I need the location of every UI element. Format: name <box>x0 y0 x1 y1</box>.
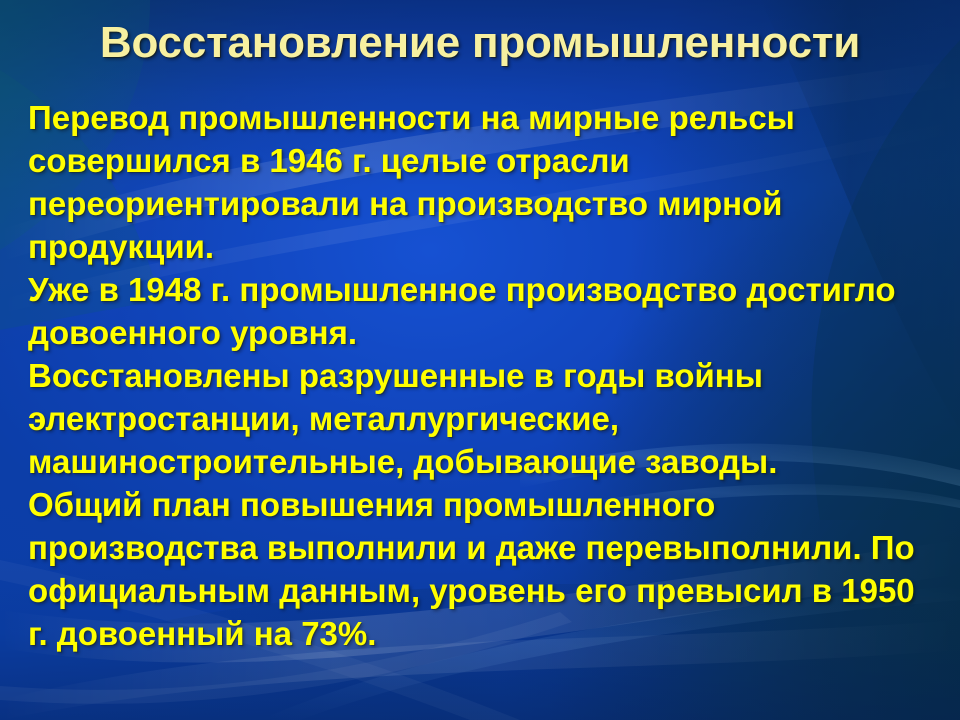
slide-content: Восстановление промышленности Перевод пр… <box>0 0 960 720</box>
body-line: продукции. <box>28 225 936 268</box>
presentation-slide: Восстановление промышленности Перевод пр… <box>0 0 960 720</box>
body-line: Уже в 1948 г. промышленное производство … <box>28 268 936 311</box>
body-line: официальным данным, уровень его превысил… <box>28 569 936 612</box>
body-line: г. довоенный на 73%. <box>28 612 936 655</box>
body-line: совершился в 1946 г. целые отрасли <box>28 139 936 182</box>
body-line: электростанции, металлургические, <box>28 397 936 440</box>
body-line: Восстановлены разрушенные в годы войны <box>28 354 936 397</box>
body-line: Общий план повышения промышленного <box>28 483 936 526</box>
body-line: переориентировали на производство мирной <box>28 182 936 225</box>
slide-body-text: Перевод промышленности на мирные рельсы … <box>28 96 936 655</box>
body-line: довоенного уровня. <box>28 311 936 354</box>
page-title: Восстановление промышленности <box>0 18 960 68</box>
body-line: машиностроительные, добывающие заводы. <box>28 440 936 483</box>
body-line: Перевод промышленности на мирные рельсы <box>28 96 936 139</box>
body-line: производства выполнили и даже перевыполн… <box>28 526 936 569</box>
